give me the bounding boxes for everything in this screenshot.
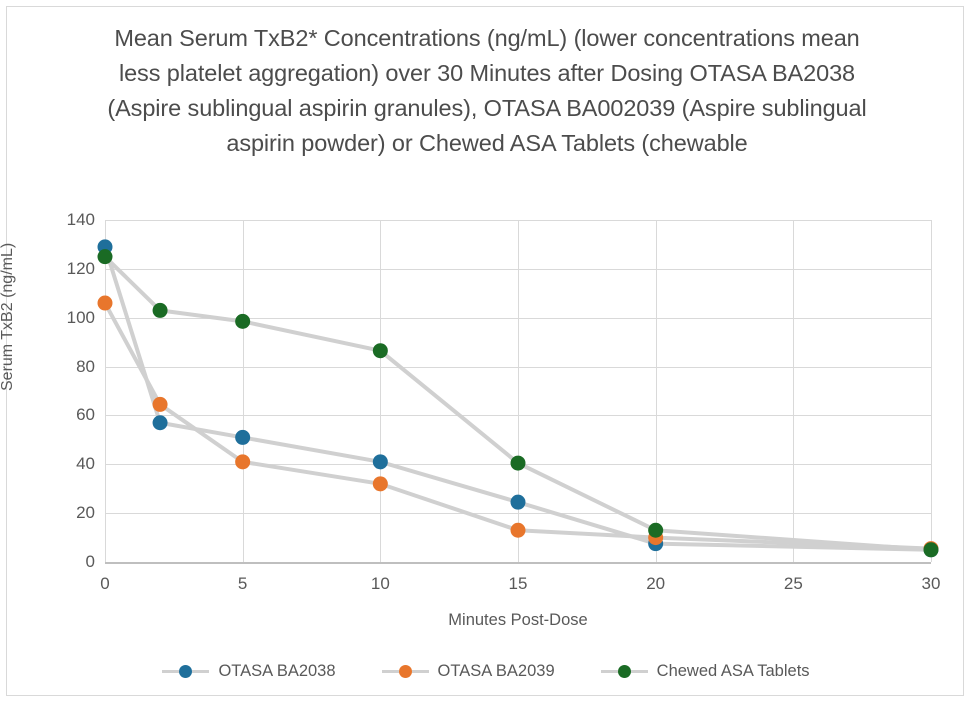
- legend-line-icon: [162, 670, 179, 673]
- data-point-marker: [153, 415, 168, 430]
- data-point-marker: [373, 476, 388, 491]
- series-line: [105, 303, 931, 549]
- y-tick-label: 100: [49, 308, 95, 328]
- y-tick-label: 80: [49, 357, 95, 377]
- data-point-marker: [235, 454, 250, 469]
- legend-marker-icon: [618, 665, 631, 678]
- y-tick-label: 20: [49, 503, 95, 523]
- data-point-marker: [373, 343, 388, 358]
- x-tick-label: 25: [763, 574, 823, 594]
- x-tick-label: 30: [901, 574, 961, 594]
- plot-area: [105, 220, 931, 562]
- data-point-marker: [511, 456, 526, 471]
- x-tick-label: 10: [350, 574, 410, 594]
- legend-line-icon: [412, 670, 429, 673]
- y-tick-label: 40: [49, 454, 95, 474]
- legend-line-icon: [382, 670, 399, 673]
- data-point-marker: [235, 314, 250, 329]
- legend-line-icon: [601, 670, 618, 673]
- legend-marker-icon: [399, 665, 412, 678]
- x-axis-line: [105, 562, 931, 564]
- legend-label: OTASA BA2038: [218, 662, 335, 681]
- data-point-marker: [511, 495, 526, 510]
- data-point-marker: [153, 397, 168, 412]
- legend-label: Chewed ASA Tablets: [657, 662, 810, 681]
- y-axis-title: Serum TxB2 (ng/mL): [0, 243, 17, 391]
- x-tick-label: 15: [488, 574, 548, 594]
- chart-title: Mean Serum TxB2* Concentrations (ng/mL) …: [102, 21, 872, 161]
- data-point-marker: [153, 303, 168, 318]
- series-plot-layer: [105, 220, 931, 562]
- legend-item[interactable]: OTASA BA2038: [162, 662, 335, 681]
- y-tick-label: 140: [49, 210, 95, 230]
- legend-line-icon: [192, 670, 209, 673]
- x-tick-label: 5: [213, 574, 273, 594]
- y-tick-label: 0: [49, 552, 95, 572]
- data-point-marker: [373, 454, 388, 469]
- legend-item[interactable]: OTASA BA2039: [382, 662, 555, 681]
- data-point-marker: [648, 523, 663, 538]
- y-tick-label: 120: [49, 259, 95, 279]
- data-point-marker: [98, 296, 113, 311]
- legend-label: OTASA BA2039: [438, 662, 555, 681]
- y-tick-label: 60: [49, 405, 95, 425]
- legend-item[interactable]: Chewed ASA Tablets: [601, 662, 810, 681]
- x-tick-label: 0: [75, 574, 135, 594]
- legend-marker-icon: [179, 665, 192, 678]
- legend-line-icon: [631, 670, 648, 673]
- x-axis-title: Minutes Post-Dose: [105, 611, 931, 630]
- x-tick-label: 20: [626, 574, 686, 594]
- data-point-marker: [511, 523, 526, 538]
- chart-legend: OTASA BA2038OTASA BA2039Chewed ASA Table…: [7, 662, 965, 681]
- gridline-vertical: [931, 220, 932, 562]
- data-point-marker: [235, 430, 250, 445]
- data-point-marker: [924, 542, 939, 557]
- data-point-marker: [98, 249, 113, 264]
- chart-card: Mean Serum TxB2* Concentrations (ng/mL) …: [6, 6, 964, 696]
